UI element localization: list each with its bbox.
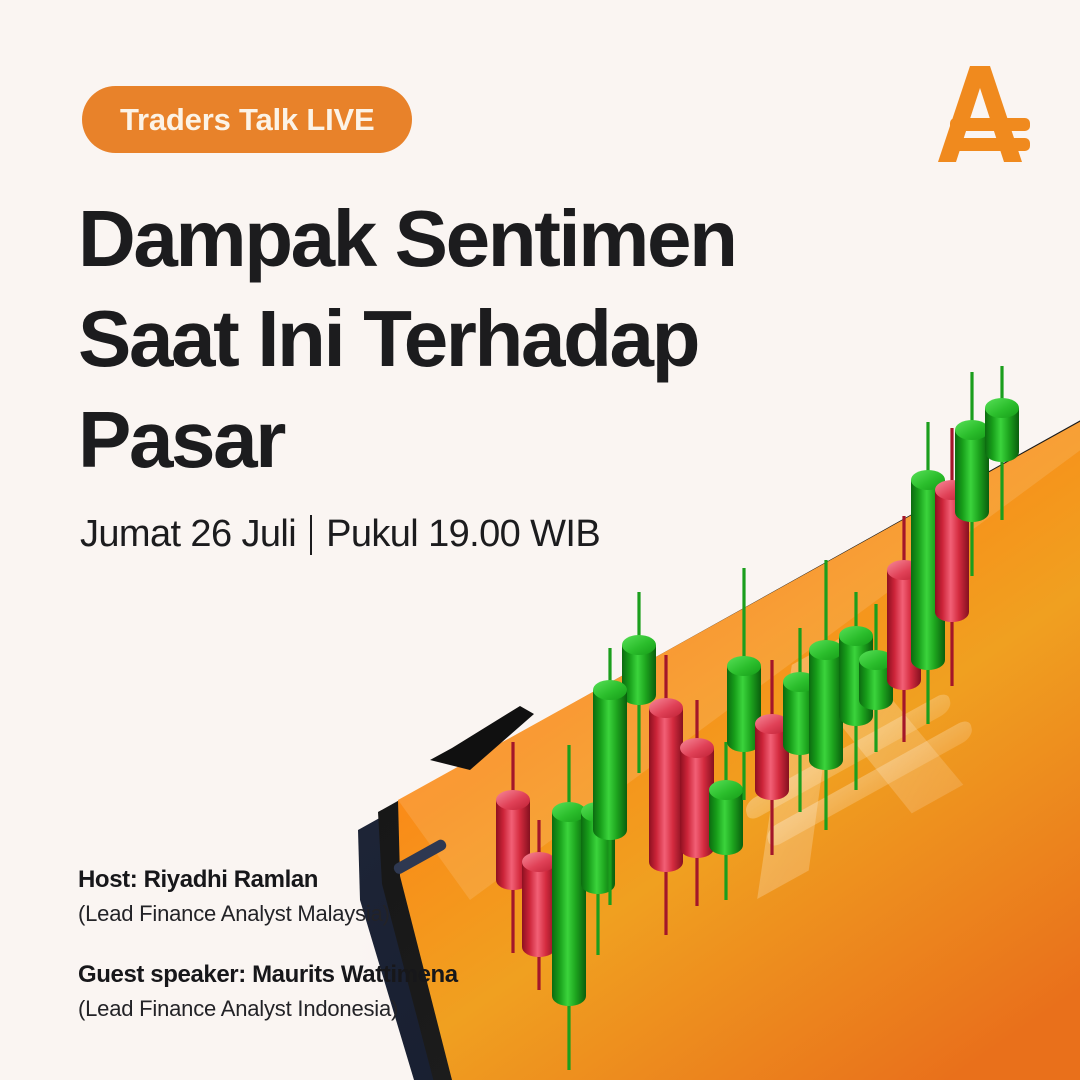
candle-body [809,650,843,760]
candle-cap [809,640,843,660]
schedule-date: Jumat 26 Juli [80,513,296,556]
candle-body [649,708,683,862]
schedule-line: Jumat 26 Juli Pukul 19.00 WIB [80,513,600,556]
candle-cap [622,635,656,655]
candle-body [593,690,627,830]
schedule-separator [310,515,312,555]
candle-cap [522,852,556,872]
promo-poster: Traders Talk LIVE Dampak Sentimen Saat I… [0,0,1080,1080]
candle-cap [680,738,714,758]
candle-body [552,812,586,996]
live-badge[interactable]: Traders Talk LIVE [82,86,412,153]
candle-cap [955,420,989,440]
schedule-time: Pukul 19.00 WIB [326,513,600,556]
guest-role: (Lead Finance Analyst Indonesia) [78,996,458,1022]
host-name: Host: Riyadhi Ramlan [78,866,458,894]
candle-cap [709,780,743,800]
candle-body [955,430,989,512]
candle-body [680,748,714,848]
candle-cap [649,698,683,718]
candle-cap [593,680,627,700]
candle-cap [839,626,873,646]
headline-line-3: Pasar [78,390,858,490]
candle-cap [727,656,761,676]
candle-body [522,862,556,947]
credits-block: Host: Riyadhi Ramlan (Lead Finance Analy… [78,866,458,1022]
credit-host: Host: Riyadhi Ramlan (Lead Finance Analy… [78,866,458,927]
candle-cap [985,398,1019,418]
headline-line-2: Saat Ini Terhadap [78,289,858,389]
guest-name: Guest speaker: Maurits Wattimena [78,961,458,989]
candle-cap [496,790,530,810]
page-title: Dampak Sentimen Saat Ini Terhadap Pasar [78,189,858,490]
candle-cap [552,802,586,822]
host-role: (Lead Finance Analyst Malaysia) [78,901,458,927]
headline-line-1: Dampak Sentimen [78,189,858,289]
ascendex-a-logo [928,58,1038,170]
credit-guest: Guest speaker: Maurits Wattimena (Lead F… [78,961,458,1022]
live-badge-label: Traders Talk LIVE [120,102,374,138]
